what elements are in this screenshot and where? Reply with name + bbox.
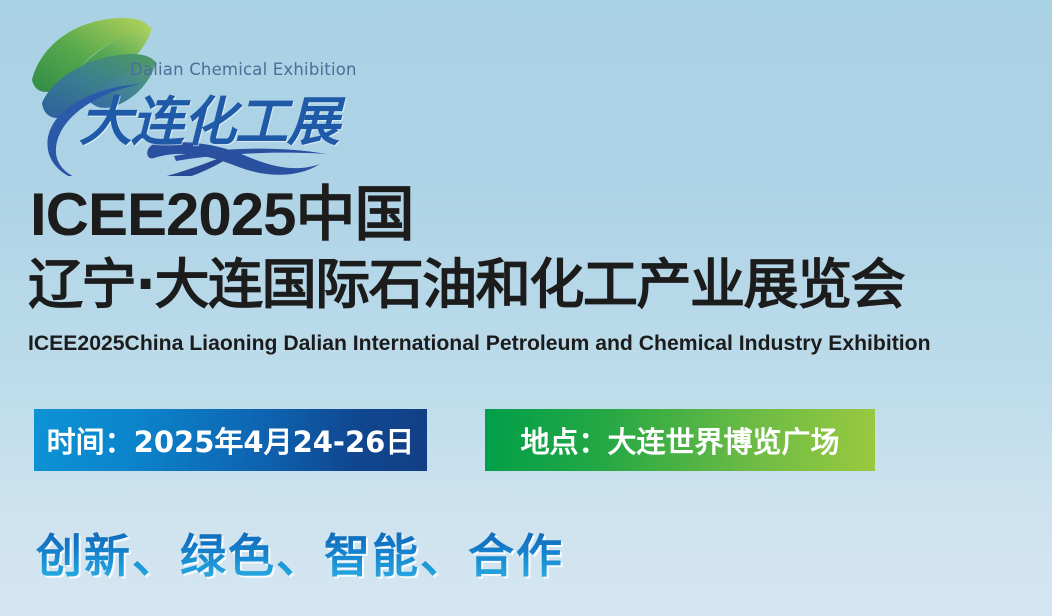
slogan-text: 创新、绿色、智能、合作 [36, 520, 564, 586]
logo-english-name: Dalian Chemical Exhibition [130, 60, 357, 79]
page-title-line2: 辽宁·大连国际石油和化工产业展览会 [28, 258, 904, 312]
date-badge: 时间：2025年4月24-26日 [34, 409, 427, 471]
page-subtitle-english: ICEE2025China Liaoning Dalian Internatio… [28, 331, 931, 356]
venue-badge: 地点：大连世界博览广场 [485, 409, 875, 471]
date-badge-label: 时间：2025年4月24-26日 [47, 419, 415, 461]
page-title-line1: ICEE2025中国 [30, 185, 414, 245]
exhibition-poster: Dalian Chemical Exhibition 大连化工展 ICEE202… [0, 0, 1052, 616]
venue-badge-label: 地点：大连世界博览广场 [520, 419, 839, 461]
logo-chinese-name: 大连化工展 [79, 80, 339, 156]
exhibition-logo: Dalian Chemical Exhibition 大连化工展 [22, 8, 342, 176]
